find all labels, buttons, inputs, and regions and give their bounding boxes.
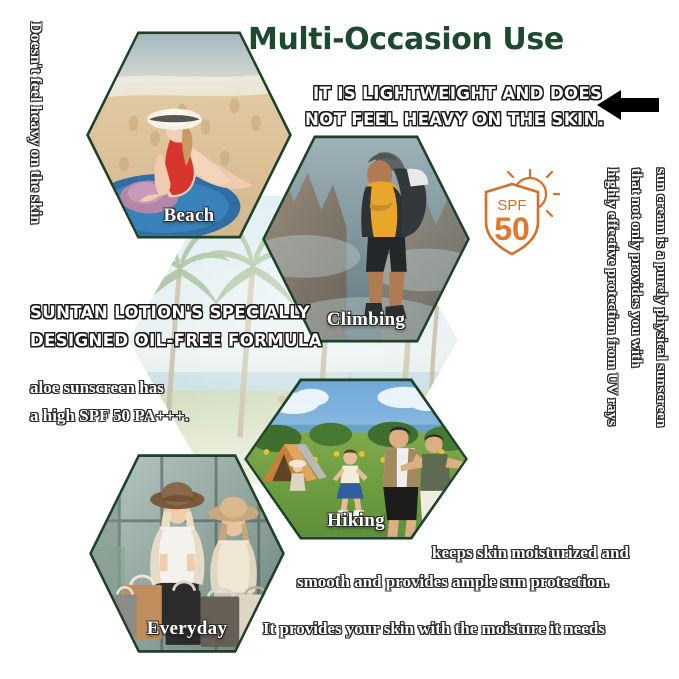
page-title: Multi-Occasion Use xyxy=(248,22,564,57)
headline-line-1: IT IS LIGHTWEIGHT AND DOES xyxy=(313,84,602,103)
right-vertical-text-1: sun cream is a purely physical sunscreen xyxy=(652,168,669,427)
formula-caps-line-1: SUNTAN LOTION'S SPECIALLY xyxy=(30,303,310,322)
spf-value: 50 xyxy=(494,211,530,247)
left-vertical-text: Doesn't feel heavy on the skin xyxy=(26,22,44,224)
left-arrow-icon xyxy=(597,88,659,122)
aloe-text-line-1: aloe sunscreen has xyxy=(30,378,164,398)
spf-shield-icon: SPF 50 xyxy=(478,168,560,260)
bottom-text-line-2: smooth and provides ample sun protection… xyxy=(297,572,609,592)
poster-canvas: Beach xyxy=(0,0,679,679)
bottom-text-line-3: It provides your skin with the moisture … xyxy=(263,619,605,639)
right-vertical-text-2: that not only provides you with xyxy=(627,168,644,367)
aloe-text-line-2: a high SPF 50 PA+++. xyxy=(30,406,189,426)
bottom-text-line-1: keeps skin moisturized and xyxy=(432,543,629,563)
headline-line-2: NOT FEEL HEAVY ON THE SKIN. xyxy=(305,110,604,129)
right-vertical-text-3: highly effective protection from UV rays xyxy=(603,168,620,426)
formula-caps-line-2: DESIGNED OIL-FREE FORMULA xyxy=(30,331,322,350)
